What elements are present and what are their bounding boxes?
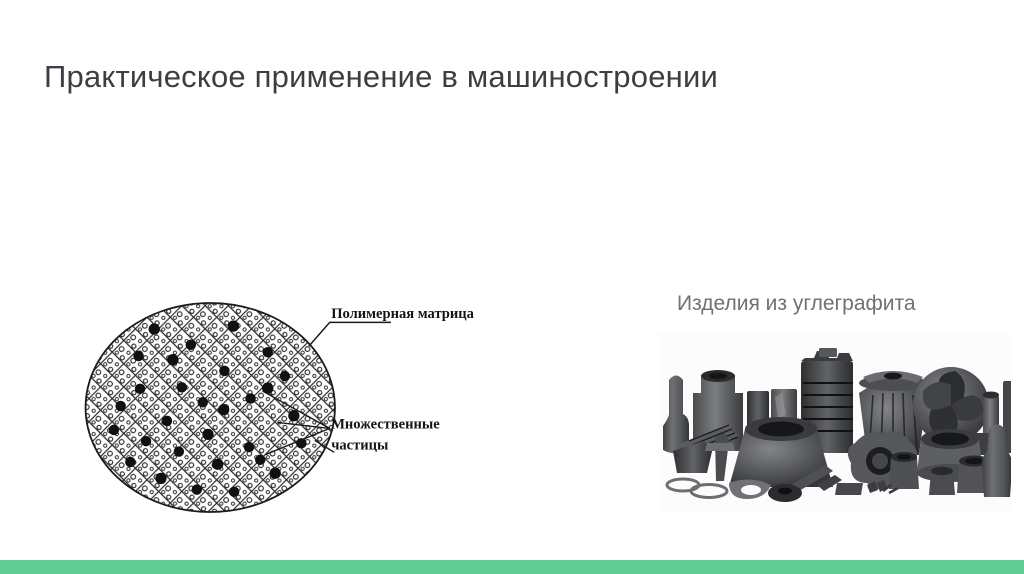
- particle: [149, 323, 160, 334]
- particle: [270, 468, 281, 479]
- particle: [177, 382, 187, 392]
- graphite-products-photo: [659, 333, 1011, 513]
- page-title: Практическое применение в машиностроении: [44, 57, 944, 97]
- particle: [280, 371, 290, 381]
- particle: [218, 404, 229, 415]
- composite-schematic-svg: Полимерная матрица Множественные частицы: [14, 294, 514, 518]
- particle: [109, 425, 119, 435]
- particle: [133, 351, 143, 361]
- graphite-products-caption: Изделия из углеграфита: [677, 292, 916, 316]
- composite-material-schematic: Полимерная матрица Множественные частицы: [14, 294, 514, 518]
- particle: [288, 410, 299, 421]
- particle: [244, 442, 254, 452]
- particle: [135, 384, 145, 394]
- accent-bar: [0, 560, 1024, 574]
- particle: [228, 320, 239, 331]
- particle: [174, 446, 184, 456]
- particle: [219, 366, 229, 376]
- graphite-products-svg: [659, 333, 1011, 513]
- particle: [212, 459, 223, 470]
- particle: [192, 484, 202, 494]
- particle: [115, 401, 125, 411]
- presentation-slide: Практическое применение в машиностроении: [0, 0, 1024, 574]
- particle: [229, 487, 239, 497]
- particle: [155, 473, 166, 484]
- particle: [245, 393, 255, 403]
- particle: [263, 347, 273, 357]
- particle: [186, 340, 196, 350]
- particle: [141, 436, 151, 446]
- particle: [202, 429, 213, 440]
- particle: [167, 354, 178, 365]
- matrix-label: Полимерная матрица: [331, 306, 474, 322]
- particles-label-line1: Множественные: [331, 416, 440, 432]
- particle: [162, 416, 172, 426]
- particle: [125, 457, 135, 467]
- particles-label-line2: частицы: [331, 437, 388, 453]
- particle: [198, 397, 208, 407]
- particle: [255, 455, 265, 465]
